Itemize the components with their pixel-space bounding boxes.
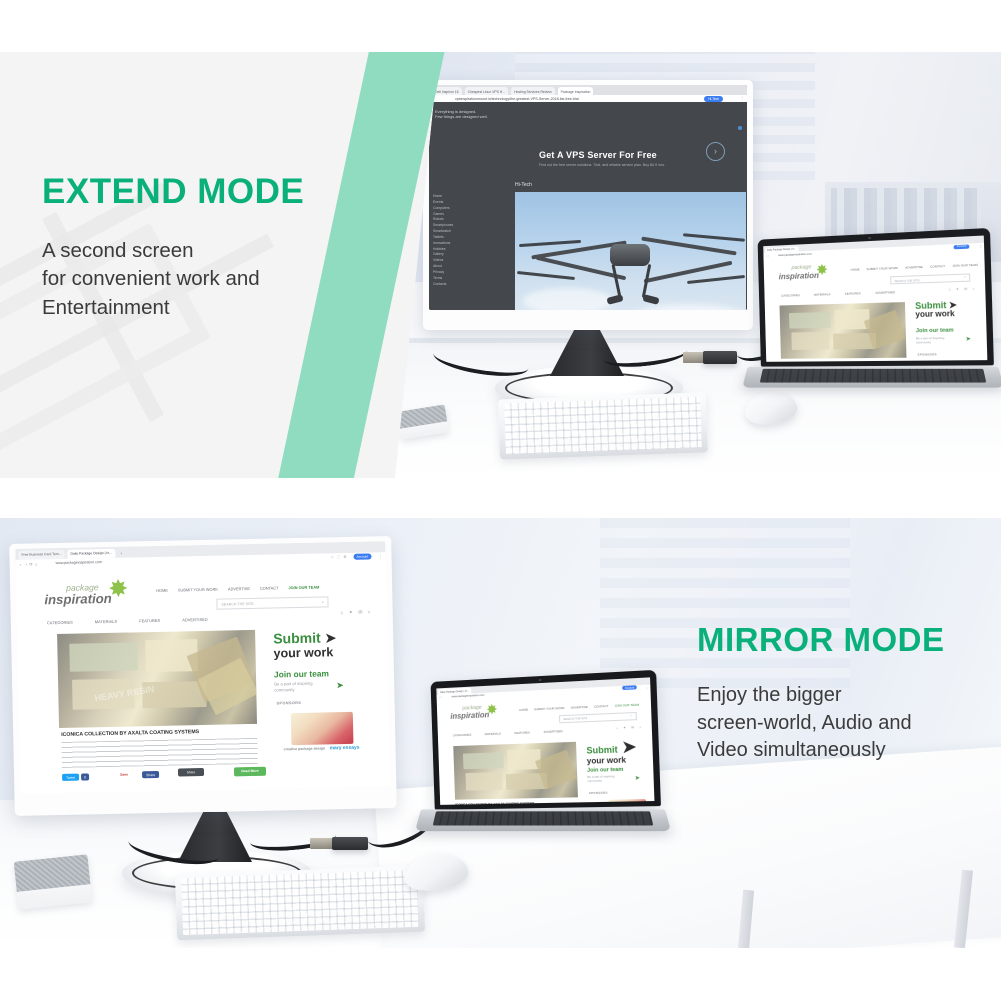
external-monitor-extend: Dell Inspiron 15 Cheapest Linux VPS H...… xyxy=(423,80,753,330)
feature-caption: ICONICA COLLECTION BY AXALTA COATING SYS… xyxy=(455,801,534,805)
category-item-categories[interactable]: CATEGORIES xyxy=(47,620,73,626)
main-nav[interactable]: HOME SUBMIT YOUR WORK ADVERTISE CONTACT … xyxy=(851,263,978,272)
chevron-right-icon[interactable]: ➤ xyxy=(336,680,344,691)
search-icon[interactable]: ⌕ xyxy=(630,714,632,718)
mirror-subcopy-line-1: Enjoy the bigger xyxy=(697,682,987,710)
notebook-pad xyxy=(14,854,93,909)
nav-item-join-our-team[interactable]: JOIN OUR TEAM xyxy=(288,585,319,591)
search-input[interactable]: SEARCH THE SITE xyxy=(559,712,637,723)
sidebar-item[interactable]: Contacts xyxy=(433,282,471,288)
site-logo[interactable]: package inspiration xyxy=(44,583,112,607)
sponsors-label: SPONSORS xyxy=(589,792,608,795)
panel-mirror-mode: Free Business Card Tem... Daily Package … xyxy=(0,518,1001,948)
category-nav[interactable]: CATEGORIES MATERIALS FEATURES ADVERTISED xyxy=(47,617,208,625)
hero-subtitle: Find out the free server solutions. Tria… xyxy=(539,163,665,167)
keyboard-keys xyxy=(181,870,419,935)
monitor-screen-extend: Dell Inspiron 15 Cheapest Linux VPS H...… xyxy=(429,85,747,310)
facebook-share-button-2[interactable]: Share xyxy=(142,771,159,779)
chevron-right-icon[interactable]: ➤ xyxy=(966,335,971,342)
mirror-mode-copy-block: MIRROR MODE Enjoy the bigger screen-worl… xyxy=(697,623,987,765)
starburst-icon: ✸ xyxy=(108,575,129,604)
share-button-row[interactable]: Tweet 0 xyxy=(62,773,89,781)
laptop-lid: Daily Package Design | In... www.package… xyxy=(431,670,661,810)
wireless-keyboard[interactable] xyxy=(498,392,708,459)
drone-body xyxy=(610,244,650,266)
join-our-team-cta[interactable]: Join our team xyxy=(916,327,954,334)
site-logo[interactable]: package inspiration xyxy=(778,265,818,280)
webcam-icon xyxy=(539,679,542,682)
notebook-cover xyxy=(14,854,91,891)
facebook-share-button[interactable]: 0 xyxy=(81,773,89,780)
main-nav[interactable]: HOME SUBMIT YOUR WORK ADVERTISE CONTACT … xyxy=(156,585,319,593)
package-inspiration-site-laptop-mirror: Daily Package Design | In... www.package… xyxy=(436,677,654,805)
browser-account-chip[interactable]: Hi-Tech xyxy=(704,96,723,102)
sponsors-label: SPONSORS xyxy=(277,701,302,706)
sponsor-ad[interactable] xyxy=(937,360,977,362)
chevron-right-circle-icon[interactable]: › xyxy=(706,142,725,161)
extend-mode-photo: Dell Inspiron 15 Cheapest Linux VPS H...… xyxy=(395,52,1001,478)
nav-item-contact[interactable]: CONTACT xyxy=(260,585,279,590)
notification-dot-icon xyxy=(738,126,742,130)
external-monitor-mirror: Free Business Card Tem... Daily Package … xyxy=(9,536,397,816)
sponsors-label: SPONSORS xyxy=(917,352,937,356)
category-item[interactable]: MATERIALS xyxy=(485,732,501,737)
category-item[interactable]: CATEGORIES xyxy=(453,733,472,738)
site-tagline: Everything is designed. Few things are d… xyxy=(435,109,488,120)
search-input[interactable]: SEARCH THE SITE xyxy=(890,273,970,284)
nav-item[interactable]: ADVERTISE xyxy=(571,705,588,710)
back-arrow-icon[interactable]: ‹ ›⟳⌂ xyxy=(20,561,40,566)
social-icon-row[interactable]: ⌂ ✦ ✉ ⌕ xyxy=(948,287,977,292)
kebab-menu-icon[interactable]: ⋮ xyxy=(378,554,382,559)
star-icon[interactable]: ☆ ⬚ ⚙ xyxy=(331,555,348,559)
main-nav[interactable]: HOME SUBMIT YOUR WORK ADVERTISE CONTACT … xyxy=(519,703,639,712)
extend-mode-headline: EXTEND MODE xyxy=(42,174,382,209)
category-item[interactable]: FEATURES xyxy=(514,730,530,735)
extend-subcopy-line-2: for convenient work and xyxy=(42,265,382,293)
starburst-icon: ✸ xyxy=(816,261,828,279)
nav-item-advertise[interactable]: ADVERTISE xyxy=(228,586,250,591)
category-item-materials[interactable]: MATERIALS xyxy=(95,619,117,624)
hero-title: Get A VPS Server For Free xyxy=(539,150,657,160)
laptop-base xyxy=(415,809,671,831)
nav-item[interactable]: JOIN OUR TEAM xyxy=(952,263,977,268)
category-item[interactable]: ADVERTISED xyxy=(875,290,895,295)
extend-mode-copy-block: EXTEND MODE A second screen for convenie… xyxy=(42,174,382,322)
monitor-screen-mirror: Free Business Card Tem... Daily Package … xyxy=(15,541,390,794)
starburst-icon: ✸ xyxy=(486,701,498,718)
laptop-base xyxy=(742,367,1001,388)
category-label: Hi-Tech xyxy=(515,182,532,188)
read-more-button[interactable]: Read More xyxy=(234,767,266,777)
browser-url-text: vpsinspirationmount.in/technology/the-gr… xyxy=(455,97,579,101)
nav-item[interactable]: HOME xyxy=(519,708,528,712)
feature-image[interactable] xyxy=(780,302,907,359)
panel-extend-mode: EXTEND MODE A second screen for convenie… xyxy=(0,52,1001,478)
site-sidebar-nav[interactable]: Home Events Computers Games Robots Smart… xyxy=(433,194,471,288)
join-our-team-cta[interactable]: Join our team xyxy=(274,668,329,679)
adapter-metal-plug xyxy=(683,352,705,363)
browser-account-chip[interactable]: Account xyxy=(353,554,371,560)
mirror-subcopy-line-2: screen-world, Audio and xyxy=(697,710,987,738)
laptop-screen-extend: Daily Package Design | In... www.package… xyxy=(763,236,987,362)
package-inspiration-site-monitor: Free Business Card Tem... Daily Package … xyxy=(15,541,390,794)
twitter-share-button[interactable]: Tweet xyxy=(62,774,79,782)
wireless-keyboard[interactable] xyxy=(175,866,425,941)
social-icon-row[interactable]: ⌂ ✦ ✉ ⌕ xyxy=(616,725,644,730)
back-arrow-icon[interactable]: ‹ › xyxy=(766,254,769,258)
category-nav[interactable]: CATEGORIES MATERIALS FEATURES ADVERTISED xyxy=(781,290,895,297)
feature-image[interactable]: HEAVY RESIN xyxy=(57,630,257,728)
join-our-team-sub: Be a part of inspiring community xyxy=(274,681,313,693)
sponsor-ad-image[interactable] xyxy=(291,712,354,745)
kebab-menu-icon[interactable]: ⋮ xyxy=(740,96,744,100)
laptop-lid: Daily Package Design | In... www.package… xyxy=(758,228,994,367)
share-count-button[interactable]: Share xyxy=(178,768,204,777)
submit-your-work-cta[interactable]: Submit ➤ your work xyxy=(915,301,957,320)
category-item-features[interactable]: FEATURES xyxy=(139,618,160,623)
nav-item[interactable]: SUBMIT YOUR WORK xyxy=(534,706,565,711)
site-logo[interactable]: package inspiration xyxy=(450,705,489,720)
nav-item[interactable]: JOIN OUR TEAM xyxy=(615,703,639,708)
chevron-right-icon: ➤ xyxy=(325,630,336,645)
category-nav[interactable]: CATEGORIES MATERIALS FEATURES ADVERTISED xyxy=(453,729,563,737)
sponsor-ad-brand[interactable]: mary essays xyxy=(329,745,359,752)
join-our-team-cta[interactable]: Join our team xyxy=(587,767,623,774)
marketing-infographic: EXTEND MODE A second screen for convenie… xyxy=(0,0,1001,1001)
category-item[interactable]: FEATURES xyxy=(845,291,861,295)
feature-caption: ICONICA COLLECTION BY AXALTA COATING SYS… xyxy=(61,729,199,738)
pinterest-save-button[interactable]: Save xyxy=(120,773,128,777)
adapter-metal-plug xyxy=(310,838,334,849)
chevron-right-icon: ➤ xyxy=(622,739,637,757)
nav-item[interactable]: SUBMIT YOUR WORK xyxy=(866,266,898,271)
nav-item[interactable]: HOME xyxy=(851,267,860,271)
mirror-subcopy-line-3: Video simultaneously xyxy=(697,737,987,765)
nav-item-submit-your-work[interactable]: SUBMIT YOUR WORK xyxy=(178,587,218,593)
mirror-mode-headline: MIRROR MODE xyxy=(697,623,987,656)
keyboard-keys xyxy=(504,397,702,455)
category-item[interactable]: ADVERTISED xyxy=(544,729,563,734)
category-item[interactable]: CATEGORIES xyxy=(781,293,800,297)
laptop-keyboard[interactable] xyxy=(760,369,987,383)
tech-website: Everything is designed. Few things are d… xyxy=(429,102,747,310)
laptop-screen-mirror: Daily Package Design | In... www.package… xyxy=(436,677,654,805)
laptop-keyboard[interactable] xyxy=(433,811,654,825)
search-input[interactable]: SEARCH THE SITE xyxy=(216,596,328,609)
feature-caption: ICONICA COLLECTION BY AXALTA COATING SYS… xyxy=(781,361,862,362)
drone-hero-image: Original Aerial Drone 2018 xyxy=(515,192,746,310)
kebab-menu-icon[interactable]: ⋮ xyxy=(979,244,982,248)
article-body-text xyxy=(61,738,258,768)
laptop-mirror: Daily Package Design | In... www.package… xyxy=(418,676,668,856)
package-inspiration-site-laptop: Daily Package Design | In... www.package… xyxy=(763,236,987,362)
browser-account-chip[interactable]: Account xyxy=(954,244,969,249)
new-tab-icon[interactable]: + xyxy=(118,549,125,558)
sponsor-ad-label: creative package design xyxy=(284,746,326,751)
category-item[interactable]: MATERIALS xyxy=(814,292,831,296)
join-our-team-sub: Be a part of inspiring community xyxy=(587,775,614,784)
back-arrow-icon[interactable]: ‹ › xyxy=(439,696,441,699)
search-icon[interactable]: ⌕ xyxy=(964,275,966,279)
search-icon[interactable]: ⌕ xyxy=(321,599,324,604)
nav-item[interactable]: ADVERTISE xyxy=(905,265,923,270)
social-icon-row[interactable]: ⌂ ✦ ✉ ⌕ xyxy=(340,609,372,616)
kebab-menu-icon[interactable]: ⋮ xyxy=(645,685,648,689)
category-item-advertised[interactable]: ADVERTISED xyxy=(182,617,208,623)
laptop-extend: Daily Package Design | In... www.package… xyxy=(745,234,1001,410)
submit-your-work-cta[interactable]: Submit ➤ your work xyxy=(273,630,336,660)
nav-item[interactable]: CONTACT xyxy=(594,704,609,709)
chevron-right-icon[interactable]: ➤ xyxy=(635,775,641,782)
nav-item[interactable]: CONTACT xyxy=(930,264,945,269)
hdmi-usb-adapter-dongle xyxy=(332,837,368,850)
join-our-team-sub: Be a part of inspiring community xyxy=(916,336,944,345)
webcam-icon xyxy=(868,236,871,239)
feature-image[interactable] xyxy=(453,742,578,800)
extend-subcopy-line-1: A second screen xyxy=(42,237,382,265)
sponsor-ad[interactable] xyxy=(609,799,647,805)
submit-your-work-cta[interactable]: Submit ➤ your work xyxy=(586,740,637,767)
hdmi-usb-adapter-dongle xyxy=(703,351,737,364)
nav-item-home[interactable]: HOME xyxy=(156,588,168,593)
extend-subcopy-line-3: Entertainment xyxy=(42,294,382,322)
